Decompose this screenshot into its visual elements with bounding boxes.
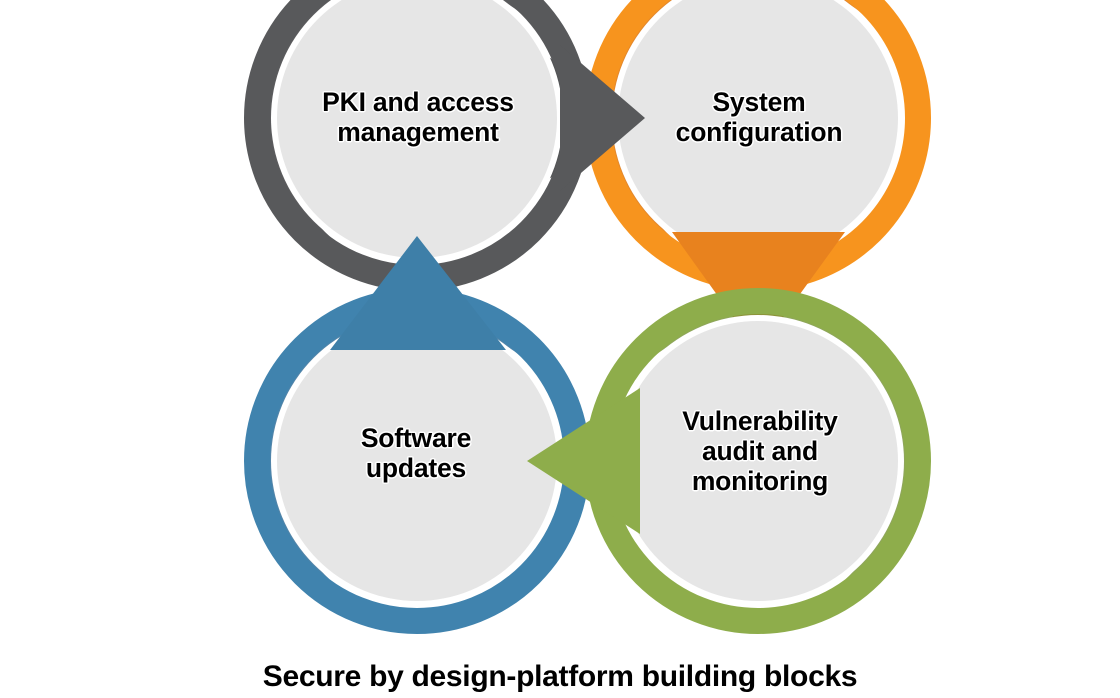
diagram-canvas: PKI and access management System configu… [0,0,1120,698]
diagram-caption: Secure by design-platform building block… [0,660,1120,694]
node-fill-green [618,321,898,601]
node-fill-blue [277,321,557,601]
cycle-diagram [0,0,1120,698]
